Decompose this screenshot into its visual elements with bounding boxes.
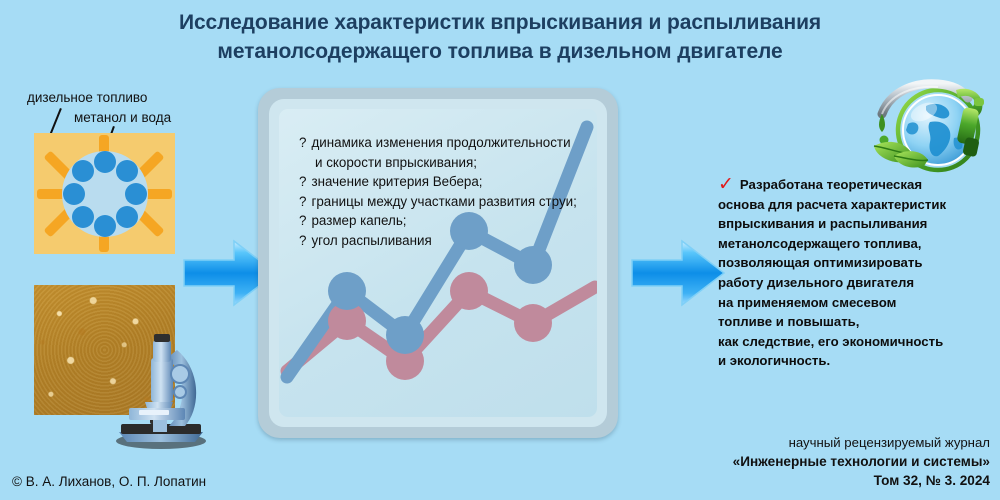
- result-line: и экологичность.: [718, 351, 990, 371]
- title-line-1: Исследование характеристик впрыскивания …: [179, 11, 821, 34]
- nozzle-hole: [125, 183, 147, 205]
- result-line: как следствие, его экономичность: [718, 332, 990, 352]
- nozzle-hole: [63, 183, 85, 205]
- page-title: Исследование характеристик впрыскивания …: [110, 8, 890, 66]
- nozzle-core-disc: [62, 151, 148, 237]
- result-statement: ✓Разработана теоретическая основа для ра…: [718, 174, 990, 371]
- result-line: метанолсодержащего топлива,: [718, 234, 990, 254]
- label-methanol-water: метанол и вода: [74, 110, 171, 125]
- bullet-text: значение критерия Вебера;: [311, 174, 482, 189]
- result-line: позволяющая оптимизировать: [718, 253, 990, 273]
- nozzle-hole: [116, 160, 138, 182]
- nozzle-hole: [72, 160, 94, 182]
- nozzle-hole: [72, 206, 94, 228]
- nozzle-hole: [116, 206, 138, 228]
- nozzle-hole: [94, 215, 116, 237]
- label-diesel-fuel: дизельное топливо: [27, 90, 147, 105]
- journal-info: научный рецензируемый журнал «Инженерные…: [733, 433, 990, 490]
- bullet-glyph: ?: [299, 194, 306, 209]
- chart-marker-mauve: [514, 304, 552, 342]
- bullet-continuation: и скорости впрыскивания;: [299, 153, 597, 173]
- injector-nozzle-cross-section: [34, 133, 175, 254]
- title-line-2: метанолсодержащего топлива в дизельном д…: [110, 37, 890, 66]
- bullet-text: границы между участками развития струи;: [311, 194, 576, 209]
- journal-name: «Инженерные технологии и системы»: [733, 452, 990, 471]
- result-line: ✓Разработана теоретическая: [718, 174, 990, 195]
- chart-marker-blue: [386, 316, 424, 354]
- bullet-item: ?размер капель;: [299, 211, 597, 231]
- nozzle-hole: [94, 151, 116, 173]
- bullet-list: ?динамика изменения продолжительности и …: [299, 133, 597, 250]
- bullet-text: угол распыливания: [311, 233, 431, 248]
- chart-marker-blue: [328, 272, 366, 310]
- bullet-glyph: ?: [299, 174, 306, 189]
- chart-marker-blue: [514, 246, 552, 284]
- journal-subtitle: научный рецензируемый журнал: [733, 433, 990, 452]
- bullet-item: ?значение критерия Вебера;: [299, 172, 597, 192]
- bullet-glyph: ?: [299, 135, 306, 150]
- result-line-text: Разработана теоретическая: [740, 177, 922, 192]
- bullet-text: динамика изменения продолжительности: [311, 135, 570, 150]
- check-icon: ✓: [718, 174, 734, 195]
- copyright-notice: © В. А. Лиханов, О. П. Лопатин: [12, 474, 206, 489]
- result-line: впрыскивания и распыливания: [718, 214, 990, 234]
- result-line: работу дизельного двигателя: [718, 273, 990, 293]
- bullet-glyph: ?: [299, 213, 306, 228]
- microscope-icon: [105, 320, 215, 450]
- chart-area: ?динамика изменения продолжительности и …: [279, 109, 597, 417]
- bullet-text: размер капель;: [311, 213, 406, 228]
- chart-marker-mauve: [450, 272, 488, 310]
- bullet-item: ?границы между участками развития струи;: [299, 192, 597, 212]
- result-line: на применяемом смесевом: [718, 293, 990, 313]
- result-line: основа для расчета характеристик: [718, 195, 990, 215]
- journal-issue: Том 32, № 3. 2024: [733, 471, 990, 490]
- eco-fuel-globe-logo: [868, 68, 990, 173]
- result-line: топливе и повышать,: [718, 312, 990, 332]
- bullet-item: ?угол распыливания: [299, 231, 597, 251]
- bullet-glyph: ?: [299, 233, 306, 248]
- poster-canvas: Исследование характеристик впрыскивания …: [0, 0, 1000, 500]
- bullet-item: ?динамика изменения продолжительности: [299, 133, 597, 153]
- center-panel-inner: ?динамика изменения продолжительности и …: [269, 99, 607, 427]
- flow-arrow-right: [630, 238, 726, 308]
- center-content-panel: ?динамика изменения продолжительности и …: [258, 88, 618, 438]
